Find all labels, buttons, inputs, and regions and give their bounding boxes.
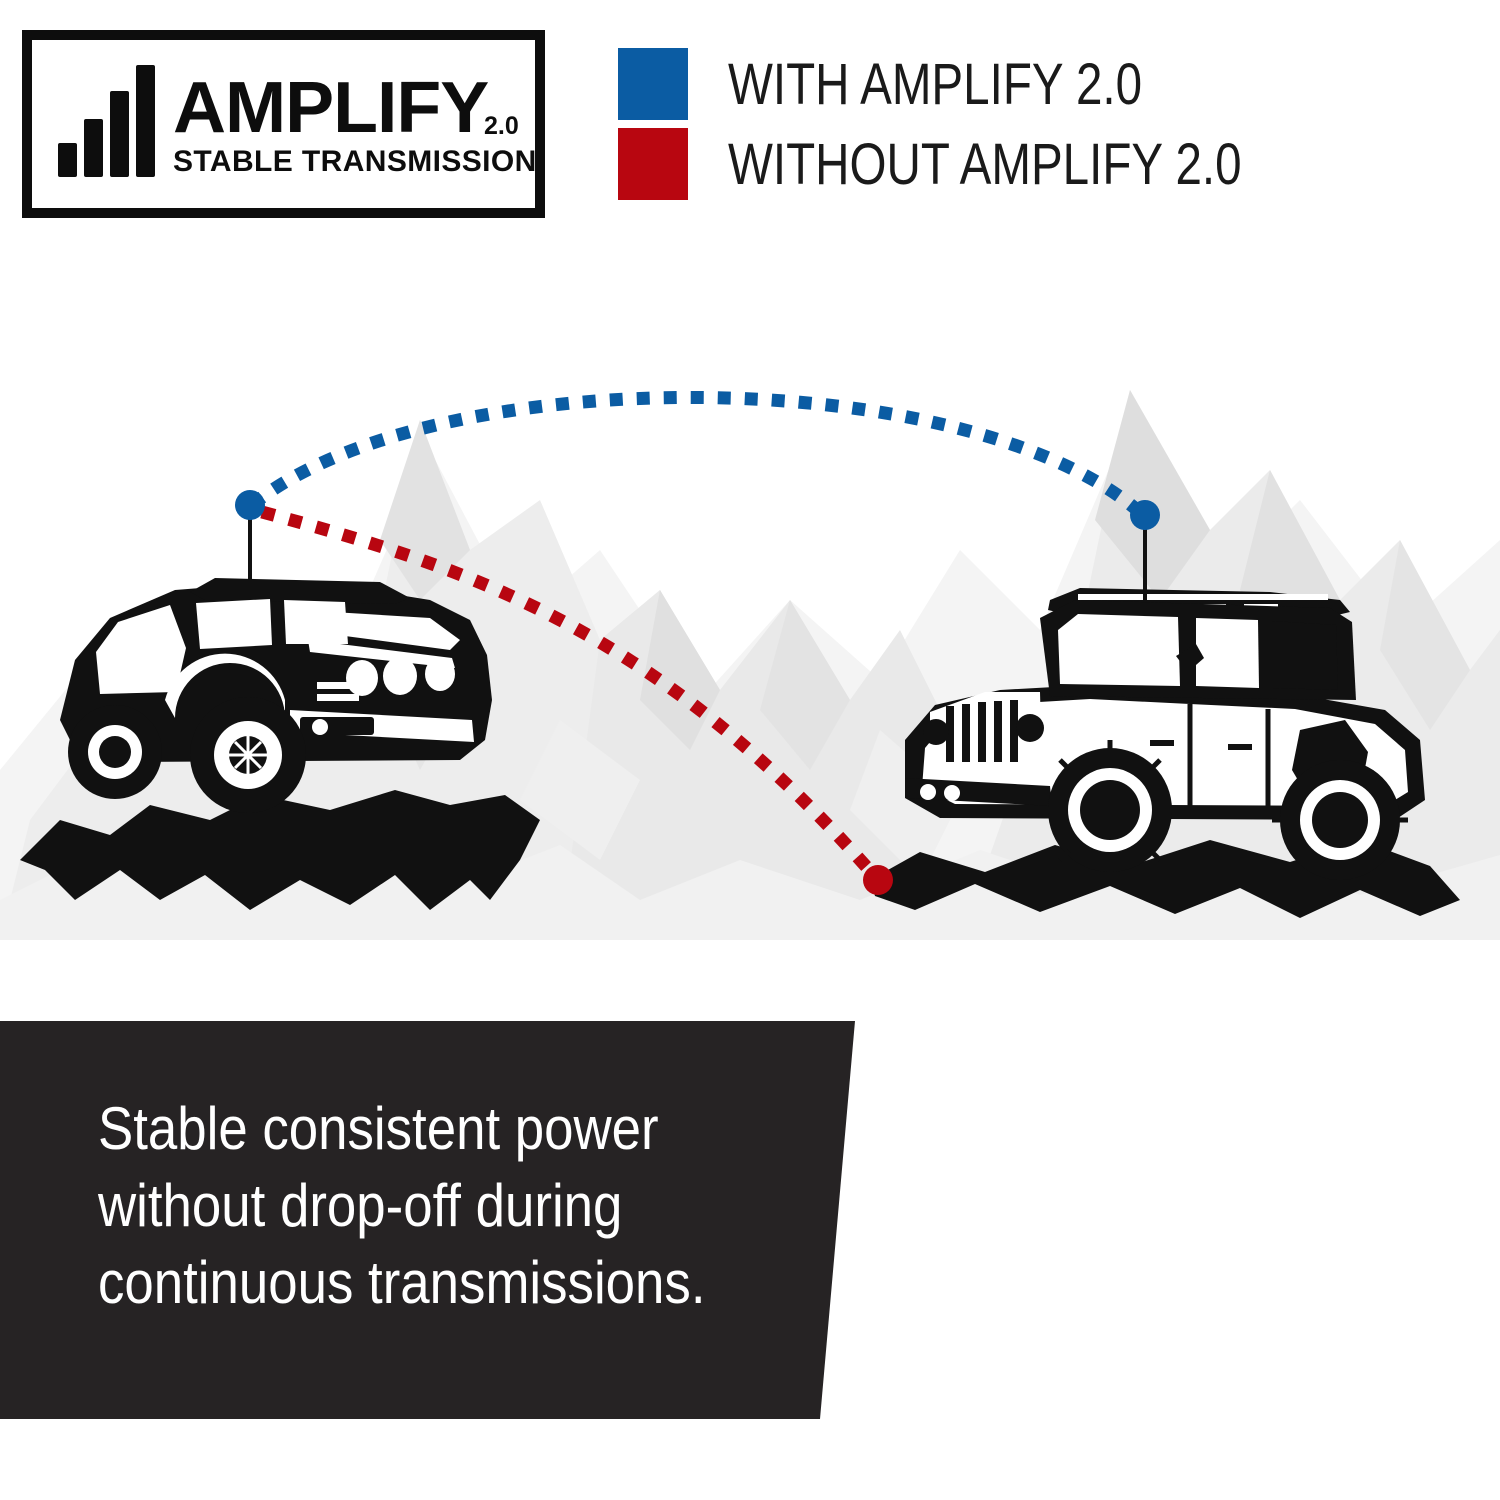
logo-tagline: STABLE TRANSMISSION [173,145,537,179]
banner-line-3: continuous transmissions. [98,1245,679,1322]
banner-line-1: Stable consistent power [98,1091,679,1168]
legend-swatch-blue [618,48,688,120]
dropped-signal-node [863,865,893,895]
legend-swatch-red [618,128,688,200]
signal-bar-3 [110,91,129,177]
signal-bar-1 [58,143,77,177]
legend-label-without-amplify: WITHOUT AMPLIFY 2.0 [728,131,1242,198]
signal-bar-2 [84,119,103,177]
legend-label-with-amplify: WITH AMPLIFY 2.0 [728,51,1142,118]
legend-item-with-amplify: WITH AMPLIFY 2.0 [618,44,1354,124]
infographic-page: AMPLIFY 2.0 STABLE TRANSMISSION WITH AMP… [0,0,1500,1500]
right-antenna-node [1130,500,1160,530]
signal-bars-icon [58,65,155,177]
with-amplify-arc [252,397,1143,515]
signal-bar-4 [136,65,155,177]
legend: WITH AMPLIFY 2.0 WITHOUT AMPLIFY 2.0 [618,44,1354,204]
logo-wordmark: AMPLIFY [173,79,488,138]
left-vehicle-wheel-front [190,697,306,813]
legend-item-without-amplify: WITHOUT AMPLIFY 2.0 [618,124,1354,204]
bottom-banner: Stable consistent power without drop-off… [0,1021,870,1419]
banner-text: Stable consistent power without drop-off… [98,1091,679,1321]
banner-line-2: without drop-off during [98,1168,679,1245]
left-antenna-node [235,490,265,520]
left-vehicle-wheel-rear [68,705,162,799]
logo-wordmark-group: AMPLIFY 2.0 STABLE TRANSMISSION [173,79,537,179]
logo-version-label: 2.0 [484,116,519,137]
logo-inner: AMPLIFY 2.0 STABLE TRANSMISSION [32,65,535,183]
logo-wordmark-row: AMPLIFY 2.0 [173,79,537,138]
illustration-scene [0,300,1500,980]
amplify-logo-badge: AMPLIFY 2.0 STABLE TRANSMISSION [22,30,545,218]
right-vehicle-wheel-front [1040,740,1180,880]
